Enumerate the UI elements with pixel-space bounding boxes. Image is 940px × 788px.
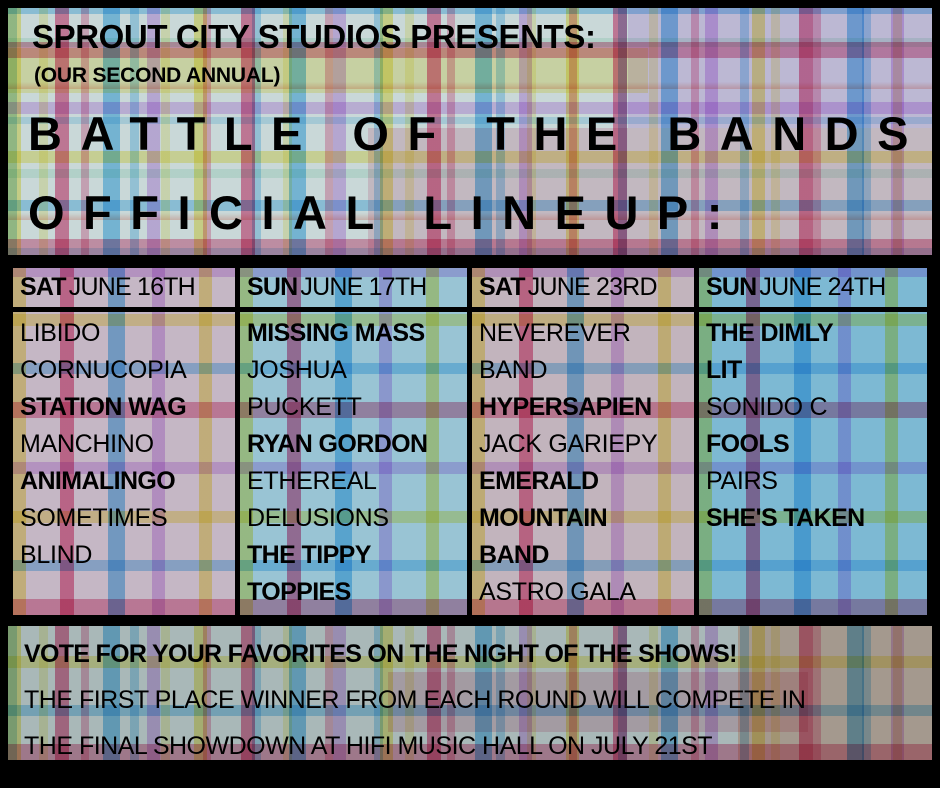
column-header-2: SUN JUNE 17TH <box>240 268 467 312</box>
day-date-label: JUNE 17TH <box>300 273 426 302</box>
lineup-column-sat-june-23: SAT JUNE 23RD NEVEREVER BAND HYPERSAPIEN… <box>472 268 699 615</box>
band-name: STATION WAG <box>20 389 235 426</box>
day-date-label: JUNE 24TH <box>759 273 885 302</box>
presents-headline: SPROUT CITY STUDIOS PRESENTS: <box>32 20 918 55</box>
band-name-cont: DELUSIONS <box>247 500 467 537</box>
band-name: THE TIPPY <box>247 537 467 574</box>
band-name: EMERALD <box>479 463 694 500</box>
footer-band: VOTE FOR YOUR FAVORITES ON THE NIGHT OF … <box>8 626 932 760</box>
header-text-block: SPROUT CITY STUDIOS PRESENTS: (OUR SECON… <box>8 8 932 236</box>
band-name: ASTRO GALA <box>479 574 694 611</box>
band-name-cont: PUCKETT <box>247 389 467 426</box>
day-abbr-label: SUN <box>706 273 756 302</box>
footer-text-block: VOTE FOR YOUR FAVORITES ON THE NIGHT OF … <box>8 626 932 760</box>
band-name: NEVEREVER <box>479 315 694 352</box>
poster-title-line-2: OFFICIAL LINEUP: <box>28 189 918 236</box>
band-name: ETHEREAL <box>247 463 467 500</box>
lineup-column-sun-june-24: SUN JUNE 24TH THE DIMLY LIT SONIDO C FOO… <box>699 268 932 615</box>
lineup-column-sat-june-16: SAT JUNE 16TH LIBIDO CORNUCOPIA STATION … <box>13 268 240 615</box>
footer-detail-line-1: THE FIRST PLACE WINNER FROM EACH ROUND W… <box>24 686 932 715</box>
band-name: LIBIDO <box>20 315 235 352</box>
day-abbr-label: SUN <box>247 273 297 302</box>
poster-title-line-1: BATTLE OF THE BANDS <box>28 110 918 157</box>
band-name: JOSHUA <box>247 352 467 389</box>
band-name: THE DIMLY <box>706 315 932 352</box>
day-abbr-label: SAT <box>479 273 525 302</box>
band-name-cont: BAND <box>479 537 694 574</box>
band-name-cont: LIT <box>706 352 932 389</box>
band-name: CORNUCOPIA <box>20 352 235 389</box>
band-name: FOOLS <box>706 426 932 463</box>
poster-canvas: SPROUT CITY STUDIOS PRESENTS: (OUR SECON… <box>0 0 940 788</box>
lineup-column-sun-june-17: SUN JUNE 17TH MISSING MASS JOSHUA PUCKET… <box>240 268 472 615</box>
band-name: SHE'S TAKEN <box>706 500 932 537</box>
column-header-3: SAT JUNE 23RD <box>472 268 694 312</box>
annual-subtitle: (OUR SECOND ANNUAL) <box>34 64 918 88</box>
band-name: JACK GARIEPY <box>479 426 694 463</box>
band-name-cont: BAND <box>479 352 694 389</box>
band-name: HYPERSAPIEN <box>479 389 694 426</box>
header-band: SPROUT CITY STUDIOS PRESENTS: (OUR SECON… <box>8 8 932 255</box>
footer-detail-line-2: THE FINAL SHOWDOWN AT HIFI MUSIC HALL ON… <box>24 732 932 760</box>
band-name-cont: BLIND <box>20 537 235 574</box>
band-name-cont: TOPPIES <box>247 574 467 611</box>
band-name: MISSING MASS <box>247 315 467 352</box>
day-abbr-label: SAT <box>20 273 66 302</box>
band-name: SOMETIMES <box>20 500 235 537</box>
band-name-cont: MOUNTAIN <box>479 500 694 537</box>
column-body-4: THE DIMLY LIT SONIDO C FOOLS PAIRS SHE'S… <box>699 312 932 537</box>
column-header-1: SAT JUNE 16TH <box>13 268 235 312</box>
column-body-3: NEVEREVER BAND HYPERSAPIEN JACK GARIEPY … <box>472 312 694 611</box>
band-name: ANIMALINGO <box>20 463 235 500</box>
band-name: SONIDO C <box>706 389 932 426</box>
band-name: RYAN GORDON <box>247 426 467 463</box>
column-body-2: MISSING MASS JOSHUA PUCKETT RYAN GORDON … <box>240 312 467 611</box>
lineup-table: SAT JUNE 16TH LIBIDO CORNUCOPIA STATION … <box>8 263 932 620</box>
column-body-1: LIBIDO CORNUCOPIA STATION WAG MANCHINO A… <box>13 312 235 574</box>
column-header-4: SUN JUNE 24TH <box>699 268 932 312</box>
day-date-label: JUNE 23RD <box>528 273 657 302</box>
vote-callout: VOTE FOR YOUR FAVORITES ON THE NIGHT OF … <box>24 640 932 669</box>
band-name: MANCHINO <box>20 426 235 463</box>
band-name: PAIRS <box>706 463 932 500</box>
day-date-label: JUNE 16TH <box>69 273 195 302</box>
